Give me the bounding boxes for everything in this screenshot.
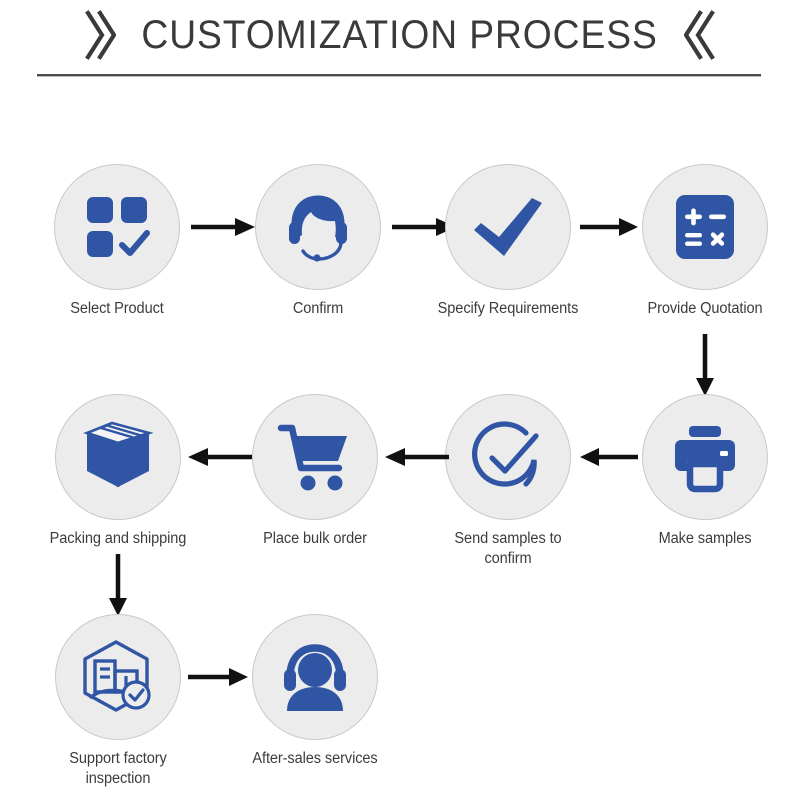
arrow-down-icon	[103, 552, 133, 618]
headset-agent-icon	[279, 188, 357, 266]
process-flow-diagram: Select Product Confirm	[0, 0, 800, 800]
step-label: Select Product	[47, 299, 188, 319]
arrow-left-icon	[578, 442, 640, 472]
headset-person-icon	[277, 639, 353, 715]
process-step-support-factory-inspection[interactable]: Support factory inspection	[43, 614, 193, 790]
factory-inspection-shield-icon	[78, 637, 158, 717]
step-icon-circle	[55, 614, 181, 740]
process-step-send-samples-to-confirm[interactable]: Send samples to confirm	[433, 394, 583, 570]
step-label: Support factory inspection	[48, 749, 189, 790]
arrow-left-icon	[186, 442, 254, 472]
step-icon-circle	[642, 394, 768, 520]
step-icon-circle	[255, 164, 381, 290]
process-step-select-product[interactable]: Select Product	[42, 164, 192, 319]
process-step-specify-requirements[interactable]: Specify Requirements	[433, 164, 583, 319]
arrow-left-icon	[383, 442, 451, 472]
step-icon-circle	[445, 394, 571, 520]
arrow-down-icon	[690, 332, 720, 398]
grid-squares-check-icon	[81, 191, 153, 263]
process-step-after-sales-services[interactable]: After-sales services	[240, 614, 390, 769]
step-label: Provide Quotation	[635, 299, 776, 319]
package-box-icon	[79, 418, 157, 496]
step-icon-circle	[55, 394, 181, 520]
step-icon-circle	[642, 164, 768, 290]
step-label: After-sales services	[245, 749, 386, 769]
printer-icon	[668, 420, 742, 494]
process-step-confirm[interactable]: Confirm	[243, 164, 393, 319]
process-step-place-bulk-order[interactable]: Place bulk order	[240, 394, 390, 549]
step-icon-circle	[445, 164, 571, 290]
process-step-packing-and-shipping[interactable]: Packing and shipping	[43, 394, 193, 549]
step-label: Confirm	[248, 299, 389, 319]
step-label: Send samples to confirm	[438, 529, 579, 570]
process-step-provide-quotation[interactable]: Provide Quotation	[630, 164, 780, 319]
step-label: Make samples	[635, 529, 776, 549]
step-icon-circle	[54, 164, 180, 290]
shopping-cart-icon	[277, 419, 353, 495]
calculator-icon	[670, 192, 740, 262]
step-icon-circle	[252, 394, 378, 520]
step-label: Place bulk order	[245, 529, 386, 549]
circle-check-outline-icon	[468, 417, 548, 497]
process-step-make-samples[interactable]: Make samples	[630, 394, 780, 549]
bold-checkmark-icon	[470, 189, 546, 265]
step-label: Specify Requirements	[438, 299, 579, 319]
step-icon-circle	[252, 614, 378, 740]
step-label: Packing and shipping	[48, 529, 189, 549]
